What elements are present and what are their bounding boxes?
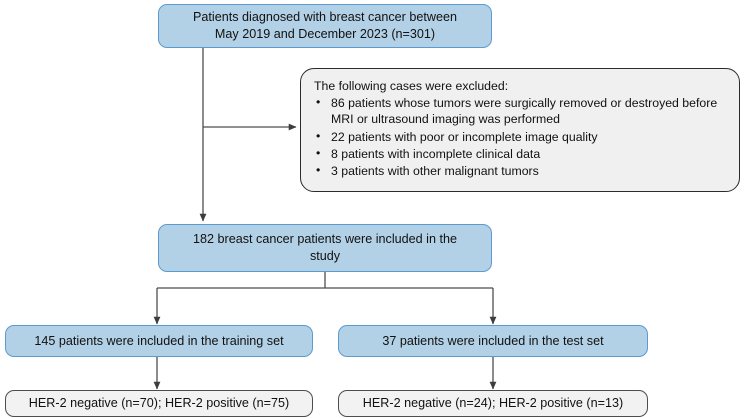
excluded-list-item: • 22 patients with poor or incomplete im… [314,129,727,145]
bullet-icon: • [316,162,320,178]
excluded-list-item: • 3 patients with other malignant tumors [314,163,727,179]
bullet-icon: • [316,128,320,144]
excluded-item-text: 86 patients whose tumors were surgically… [331,96,717,126]
excluded-list-item: • 86 patients whose tumors were surgical… [314,95,727,127]
node-included: 182 breast cancer patients were included… [158,224,492,272]
training-her2-label: HER-2 negative (n=70); HER-2 positive (n… [29,395,289,412]
excluded-list-item: • 8 patients with incomplete clinical da… [314,146,727,162]
test-set-label: 37 patients were included in the test se… [382,333,603,350]
node-test-her2: HER-2 negative (n=24); HER-2 positive (n… [338,390,648,417]
training-set-label: 145 patients were included in the traini… [34,333,283,350]
node-enrollment: Patients diagnosed with breast cancer be… [158,4,492,48]
enrollment-line-1: Patients diagnosed with breast cancer be… [193,9,457,26]
excluded-list: • 86 patients whose tumors were surgical… [314,95,727,179]
node-excluded: The following cases were excluded: • 86 … [300,68,740,192]
flowchart-canvas: Patients diagnosed with breast cancer be… [0,0,750,418]
node-training-set: 145 patients were included in the traini… [5,325,313,357]
excluded-item-text: 22 patients with poor or incomplete imag… [331,130,598,144]
test-her2-label: HER-2 negative (n=24); HER-2 positive (n… [363,395,623,412]
excluded-title: The following cases were excluded: [314,78,727,94]
node-training-her2: HER-2 negative (n=70); HER-2 positive (n… [5,390,313,417]
bullet-icon: • [316,94,320,110]
included-line-2: study [193,248,457,265]
excluded-item-text: 8 patients with incomplete clinical data [331,147,540,161]
included-line-1: 182 breast cancer patients were included… [193,231,457,248]
node-test-set: 37 patients were included in the test se… [338,325,648,357]
bullet-icon: • [316,145,320,161]
excluded-item-text: 3 patients with other malignant tumors [331,164,539,178]
enrollment-line-2: May 2019 and December 2023 (n=301) [193,26,457,43]
